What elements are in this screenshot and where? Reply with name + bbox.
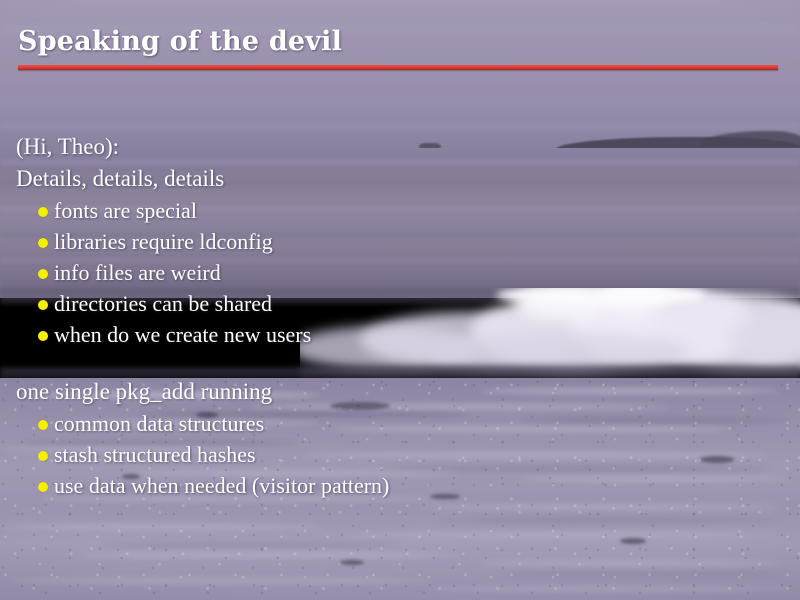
list-item: directories can be shared xyxy=(16,288,796,319)
list-item-label: fonts are special xyxy=(54,198,197,223)
bullet-dot-icon xyxy=(38,269,48,279)
presentation-slide: Speaking of the devil (Hi, Theo): Detail… xyxy=(0,0,800,600)
list-item-label: info files are weird xyxy=(54,260,221,285)
list-item: when do we create new users xyxy=(16,319,796,350)
bullet-dot-icon xyxy=(38,482,48,492)
body-line: (Hi, Theo): xyxy=(16,131,796,163)
content-block: one single pkg_add running common data s… xyxy=(16,376,796,501)
bullet-dot-icon xyxy=(38,331,48,341)
slide-body: (Hi, Theo): Details, details, details fo… xyxy=(16,131,796,501)
slide-content: Speaking of the devil (Hi, Theo): Detail… xyxy=(0,0,800,600)
list-item: use data when needed (visitor pattern) xyxy=(16,470,796,501)
list-item-label: when do we create new users xyxy=(54,322,311,347)
content-block: (Hi, Theo): Details, details, details fo… xyxy=(16,131,796,350)
bullet-dot-icon xyxy=(38,300,48,310)
body-line: one single pkg_add running xyxy=(16,376,796,408)
list-item: libraries require ldconfig xyxy=(16,226,796,257)
bullet-dot-icon xyxy=(38,207,48,217)
list-item-label: directories can be shared xyxy=(54,291,272,316)
body-line: Details, details, details xyxy=(16,163,796,195)
bullet-dot-icon xyxy=(38,238,48,248)
bullet-dot-icon xyxy=(38,451,48,461)
title-underline-rule xyxy=(18,65,778,70)
list-item: stash structured hashes xyxy=(16,439,796,470)
bullet-list: fonts are special libraries require ldco… xyxy=(16,195,796,350)
list-item-label: stash structured hashes xyxy=(54,442,256,467)
block-spacer xyxy=(16,350,796,376)
list-item: common data structures xyxy=(16,408,796,439)
bullet-dot-icon xyxy=(38,420,48,430)
list-item: info files are weird xyxy=(16,257,796,288)
list-item-label: libraries require ldconfig xyxy=(54,229,273,254)
list-item-label: use data when needed (visitor pattern) xyxy=(54,473,389,498)
list-item: fonts are special xyxy=(16,195,796,226)
slide-title: Speaking of the devil xyxy=(18,26,342,57)
list-item-label: common data structures xyxy=(54,411,264,436)
bullet-list: common data structures stash structured … xyxy=(16,408,796,501)
